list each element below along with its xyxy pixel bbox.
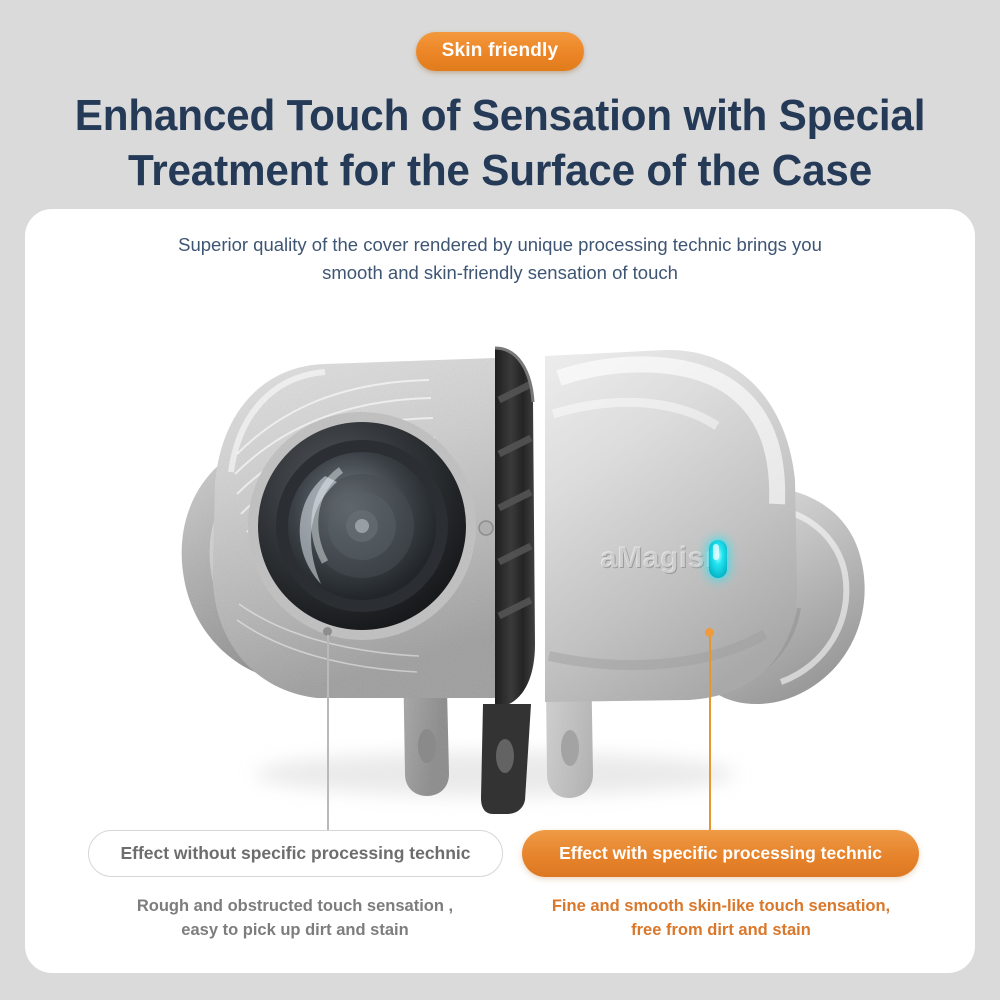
callout-pill-with-treatment-label: Effect with specific processing technic xyxy=(559,843,882,864)
right-leader-line xyxy=(709,636,711,833)
caption-without-treatment: Rough and obstructed touch sensation , e… xyxy=(85,895,505,943)
product-illustration: aMagisn aMagisn xyxy=(25,304,975,824)
callout-pill-with-treatment[interactable]: Effect with specific processing technic xyxy=(522,830,919,877)
card-subtitle: Superior quality of the cover rendered b… xyxy=(25,231,975,287)
content-card: Superior quality of the cover rendered b… xyxy=(25,209,975,973)
left-leader-line xyxy=(327,635,329,833)
right-case-half: aMagisn aMagisn xyxy=(545,350,797,702)
page-root: Skin friendly Enhanced Touch of Sensatio… xyxy=(0,0,1000,1000)
camera-lens xyxy=(248,412,476,640)
callout-pill-without-treatment-label: Effect without specific processing techn… xyxy=(120,843,470,864)
caption-with-treatment: Fine and smooth skin-like touch sensatio… xyxy=(511,895,931,943)
badge-container: Skin friendly xyxy=(0,32,1000,71)
brand-logo-emboss: aMagisn xyxy=(600,541,724,574)
left-screw-icon xyxy=(479,521,493,535)
product-svg: aMagisn aMagisn xyxy=(25,304,975,824)
page-title: Enhanced Touch of Sensation with Special… xyxy=(20,88,980,199)
callout-pill-without-treatment[interactable]: Effect without specific processing techn… xyxy=(88,830,503,877)
skin-friendly-badge: Skin friendly xyxy=(416,32,585,71)
led-indicator xyxy=(707,538,729,580)
headline-line-1: Enhanced Touch of Sensation with Special xyxy=(20,88,980,143)
headline-line-2: Treatment for the Surface of the Case xyxy=(20,143,980,198)
